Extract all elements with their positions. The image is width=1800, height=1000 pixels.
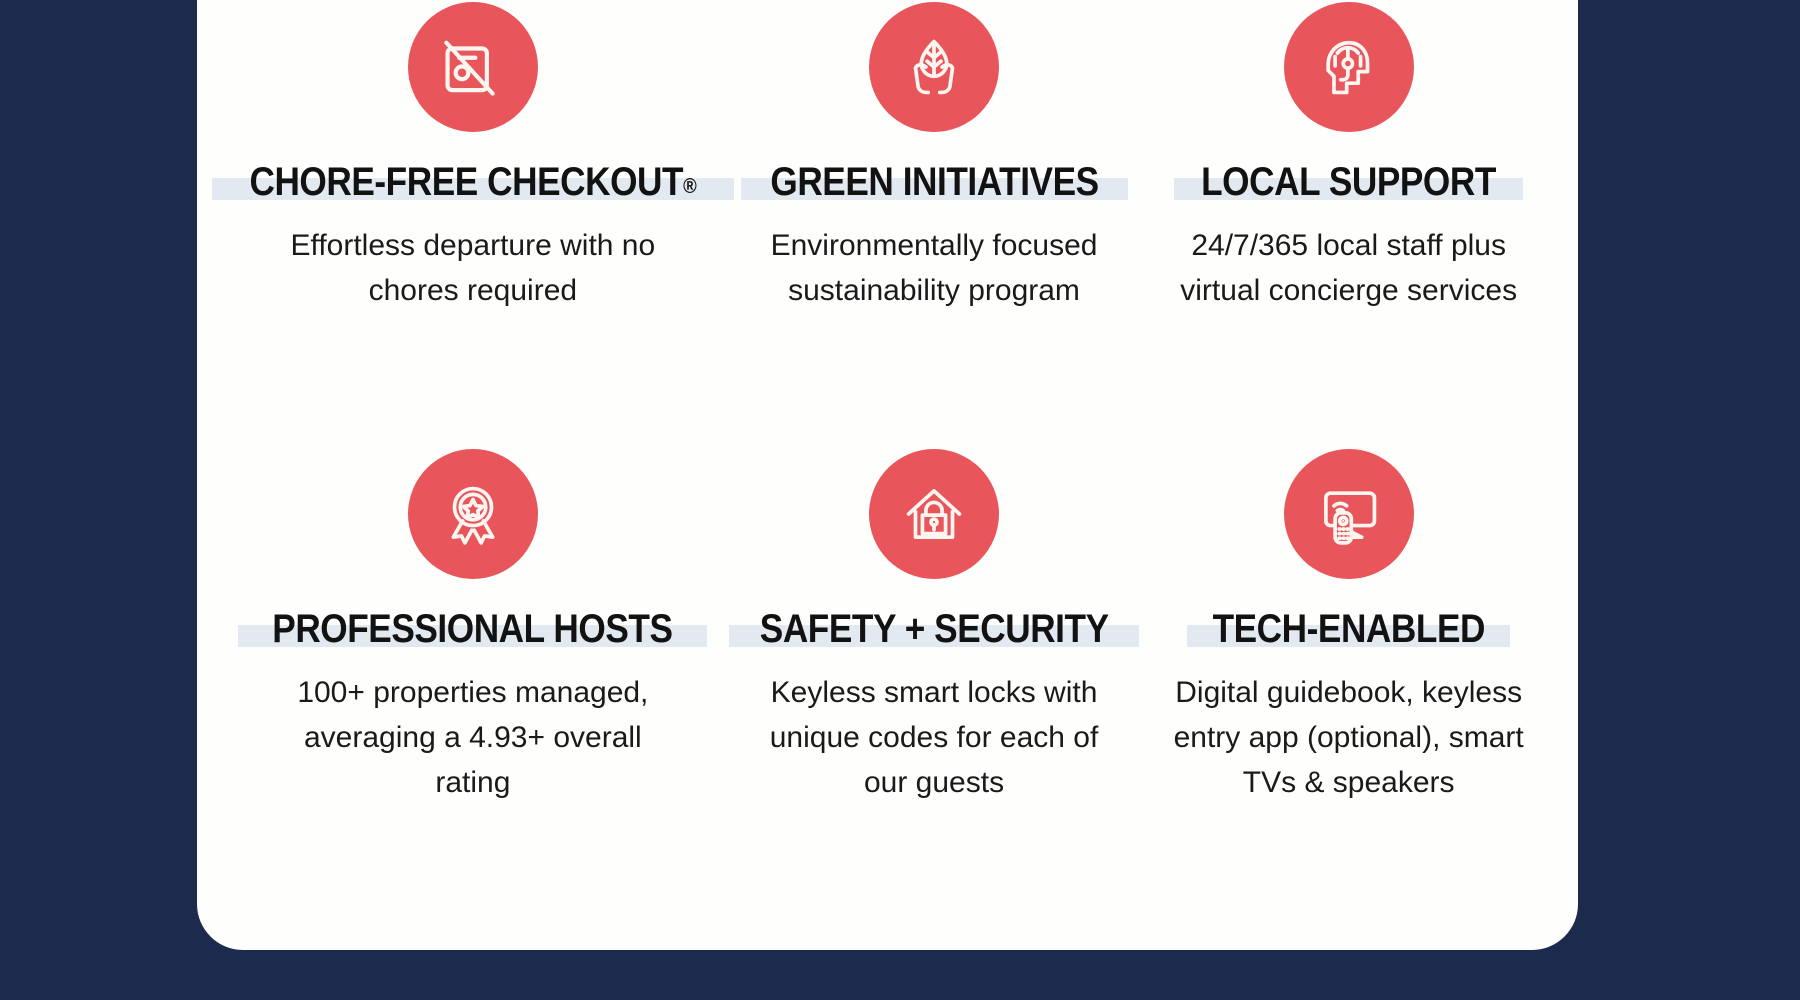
leaf-in-hands-icon bbox=[869, 2, 999, 132]
smart-tv-remote-icon bbox=[1284, 449, 1414, 579]
award-medal-star-icon bbox=[408, 449, 538, 579]
page-background: CHORE-FREE CHECKOUT® Effortless departur… bbox=[0, 0, 1800, 1000]
features-grid: CHORE-FREE CHECKOUT® Effortless departur… bbox=[197, 0, 1578, 950]
feature-description: Keyless smart locks with unique codes fo… bbox=[749, 670, 1119, 805]
feature-card-green-initiatives[interactable]: GREEN INITIATIVES Environmentally focuse… bbox=[727, 0, 1142, 405]
feature-title-wrap: TECH-ENABLED bbox=[1194, 609, 1504, 649]
feature-title: PROFESSIONAL HOSTS bbox=[273, 609, 673, 649]
registered-trademark-symbol: ® bbox=[683, 175, 696, 198]
feature-title-wrap: SAFETY + SECURITY bbox=[736, 609, 1132, 649]
feature-card-professional-hosts[interactable]: PROFESSIONAL HOSTS 100+ properties manag… bbox=[219, 405, 727, 852]
feature-title: LOCAL SUPPORT bbox=[1201, 162, 1496, 202]
feature-title: SAFETY + SECURITY bbox=[760, 609, 1109, 649]
headset-support-icon bbox=[1284, 2, 1414, 132]
feature-card-safety-security[interactable]: SAFETY + SECURITY Keyless smart locks wi… bbox=[727, 405, 1142, 852]
feature-title: GREEN INITIATIVES bbox=[770, 162, 1098, 202]
feature-card-chore-free-checkout[interactable]: CHORE-FREE CHECKOUT® Effortless departur… bbox=[219, 0, 727, 405]
feature-title-text: GREEN INITIATIVES bbox=[770, 160, 1098, 204]
feature-title: CHORE-FREE CHECKOUT® bbox=[249, 162, 696, 202]
feature-title: TECH-ENABLED bbox=[1212, 609, 1484, 649]
feature-title-wrap: PROFESSIONAL HOSTS bbox=[245, 609, 700, 649]
crossed-out-clipboard-icon bbox=[408, 2, 538, 132]
feature-title-text: LOCAL SUPPORT bbox=[1201, 160, 1496, 204]
feature-title-text: SAFETY + SECURITY bbox=[760, 607, 1109, 651]
feature-description: 100+ properties managed, averaging a 4.9… bbox=[288, 670, 658, 805]
feature-description: 24/7/365 local staff plus virtual concie… bbox=[1164, 223, 1534, 313]
feature-card-tech-enabled[interactable]: TECH-ENABLED Digital guidebook, keyless … bbox=[1141, 405, 1556, 852]
feature-title-text: PROFESSIONAL HOSTS bbox=[273, 607, 673, 651]
feature-card-local-support[interactable]: LOCAL SUPPORT 24/7/365 local staff plus … bbox=[1141, 0, 1556, 405]
feature-title-wrap: GREEN INITIATIVES bbox=[748, 162, 1121, 202]
feature-title-text: CHORE-FREE CHECKOUT bbox=[249, 160, 683, 204]
feature-title-wrap: LOCAL SUPPORT bbox=[1181, 162, 1516, 202]
feature-description: Environmentally focused sustainability p… bbox=[749, 223, 1119, 313]
house-padlock-icon bbox=[869, 449, 999, 579]
feature-description: Effortless departure with no chores requ… bbox=[288, 223, 658, 313]
feature-description: Digital guidebook, keyless entry app (op… bbox=[1164, 670, 1534, 805]
feature-title-wrap: CHORE-FREE CHECKOUT® bbox=[219, 162, 727, 202]
feature-title-text: TECH-ENABLED bbox=[1212, 607, 1484, 651]
features-panel: CHORE-FREE CHECKOUT® Effortless departur… bbox=[197, 0, 1578, 950]
